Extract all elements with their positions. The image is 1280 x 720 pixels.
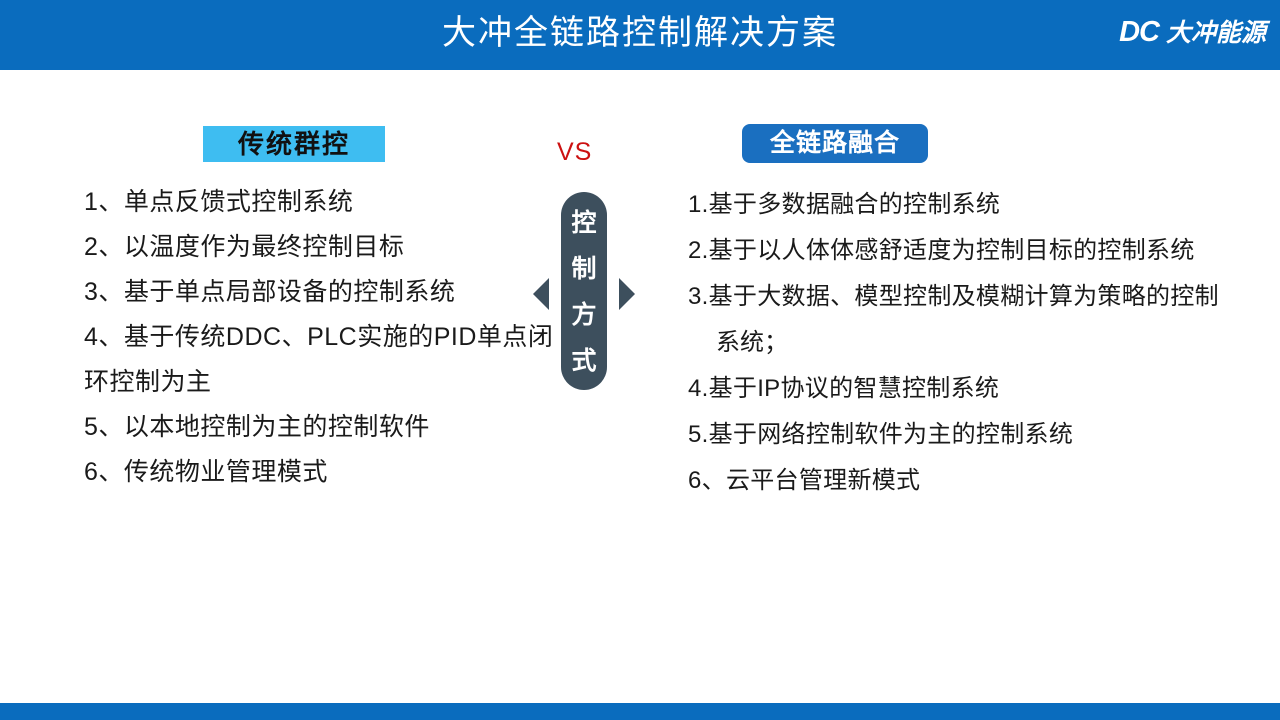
badge-char: 方: [571, 292, 596, 338]
arrow-left-icon: [533, 278, 549, 310]
arrow-right-icon: [619, 278, 635, 310]
list-item: 5、以本地控制为主的控制软件: [84, 405, 554, 450]
control-method-badge: 控 制 方 式: [561, 192, 607, 390]
list-item: 2.基于以人体体感舒适度为控制目标的控制系统: [688, 228, 1280, 274]
footer-bar: [0, 703, 1280, 720]
left-column-list: 1、单点反馈式控制系统 2、以温度作为最终控制目标 3、基于单点局部设备的控制系…: [84, 180, 554, 495]
left-column-banner: 传统群控: [203, 126, 385, 162]
page-title: 大冲全链路控制解决方案: [0, 8, 1280, 58]
badge-char: 制: [571, 246, 596, 292]
list-item: 5.基于网络控制软件为主的控制系统: [688, 412, 1280, 458]
badge-char: 式: [571, 338, 596, 384]
logo-mark-dc: DC: [1119, 16, 1159, 48]
list-item: 3、基于单点局部设备的控制系统: [84, 270, 554, 315]
list-item: 3.基于大数据、模型控制及模糊计算为策略的控制: [688, 274, 1280, 320]
logo-text-company: 大冲能源: [1166, 17, 1266, 49]
list-item: 4、基于传统DDC、PLC实施的PID单点闭环控制为主: [84, 315, 554, 405]
list-item: 1.基于多数据融合的控制系统: [688, 182, 1280, 228]
list-item: 2、以温度作为最终控制目标: [84, 225, 554, 270]
list-item: 4.基于IP协议的智慧控制系统: [688, 366, 1280, 412]
slide-canvas: 大冲全链路控制解决方案 DC 大冲能源 传统群控 1、单点反馈式控制系统 2、以…: [0, 0, 1280, 720]
brand-logo: DC 大冲能源: [1119, 16, 1266, 49]
right-column-banner: 全链路融合: [742, 124, 928, 163]
list-item: 1、单点反馈式控制系统: [84, 180, 554, 225]
list-item: 6、云平台管理新模式: [688, 458, 1280, 504]
list-item: 6、传统物业管理模式: [84, 450, 554, 495]
badge-char: 控: [571, 200, 596, 246]
vs-label: VS: [557, 138, 592, 167]
right-column-list: 1.基于多数据融合的控制系统 2.基于以人体体感舒适度为控制目标的控制系统 3.…: [688, 182, 1280, 504]
list-item-continuation: 系统；: [688, 320, 1280, 366]
